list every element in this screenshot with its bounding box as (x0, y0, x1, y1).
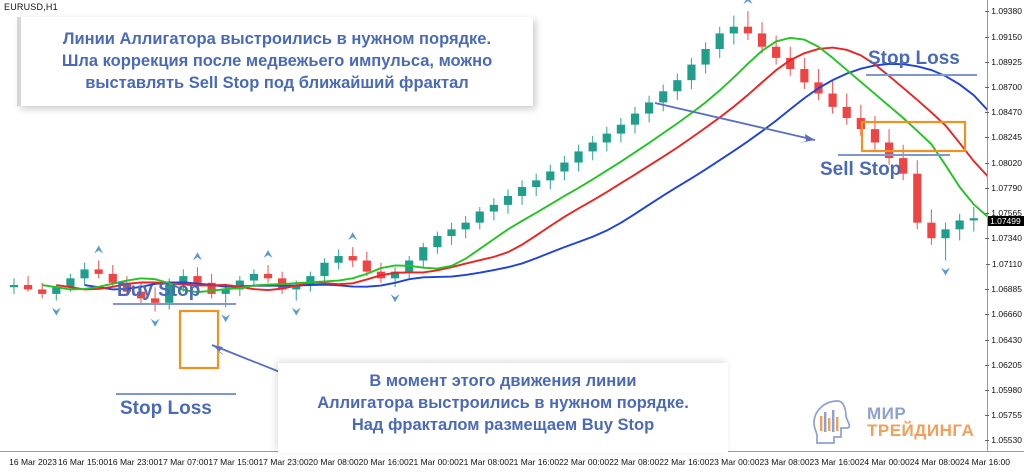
time-tick: 17 Mar 23:00 (258, 457, 308, 467)
time-tick: 21 Mar 00:00 (409, 457, 459, 467)
annotation-bottom-line1: В момент этого движения линии (288, 371, 718, 393)
time-tick: 17 Mar 15:00 (208, 457, 258, 467)
annotation-bottom-line2: Аллигатора выстроились в нужном порядке. (288, 393, 718, 415)
buy-stop-label: Buy Stop (117, 280, 200, 302)
price-axis[interactable]: 1.093801.091501.089251.087001.084701.082… (987, 0, 1024, 452)
watermark-logo: МИР ТРЕЙДИНГА (808, 398, 974, 446)
buy-stop-underline (113, 303, 236, 305)
price-tick: 1.07790 (991, 183, 1022, 193)
time-tick: 23 Mar 00:00 (709, 457, 759, 467)
annotation-top-line3: выставлять Sell Stop под ближайший фракт… (35, 73, 519, 95)
time-tick: 16 Mar 15:00 (58, 457, 108, 467)
time-tick: 16 Mar 23:00 (108, 457, 158, 467)
time-tick: 23 Mar 08:00 (759, 457, 809, 467)
annotation-top-line2: Шла коррекция после медвежьего импульса,… (35, 51, 519, 73)
chart-screenshot: 1.093801.091501.089251.087001.084701.082… (0, 0, 1024, 473)
time-tick: 22 Mar 16:00 (659, 457, 709, 467)
stop-loss-right-underline (866, 74, 977, 76)
time-tick: 24 Mar 00:00 (860, 457, 910, 467)
time-tick: 24 Mar 16:00 (960, 457, 1010, 467)
annotation-bottom-line3: Над фракталом размещаем Buy Stop (288, 415, 718, 437)
time-tick: 21 Mar 08:00 (459, 457, 509, 467)
time-tick: 24 Mar 08:00 (910, 457, 960, 467)
price-tick: 1.05980 (991, 385, 1022, 395)
time-tick: 17 Mar 07:00 (158, 457, 208, 467)
price-tick: 1.05755 (991, 410, 1022, 420)
price-tick: 1.07110 (992, 259, 1022, 269)
watermark-line2: ТРЕЙДИНГА (867, 422, 974, 439)
time-tick: 20 Mar 08:00 (309, 457, 359, 467)
price-tick: 1.08020 (991, 158, 1022, 168)
symbol-title: EURUSD,H1 (4, 2, 58, 12)
stop-loss-left-label: Stop Loss (120, 398, 212, 420)
price-tick: 1.08700 (991, 82, 1022, 92)
time-tick: 20 Mar 16:00 (359, 457, 409, 467)
price-tick: 1.08925 (991, 57, 1022, 67)
sell-stop-label: Sell Stop (820, 159, 901, 181)
price-tick: 1.06660 (991, 309, 1022, 319)
price-tick: 1.06430 (991, 335, 1022, 345)
price-tick: 1.05530 (991, 435, 1022, 445)
annotation-top-line1: Линии Аллигатора выстроились в нужном по… (35, 29, 519, 51)
orange-box-left (180, 311, 218, 368)
annotation-top: Линии Аллигатора выстроились в нужном по… (17, 17, 533, 106)
price-tick: 1.09150 (991, 32, 1022, 42)
time-tick: 23 Mar 16:00 (810, 457, 860, 467)
annotation-bottom: В момент этого движения линии Аллигатора… (278, 363, 728, 453)
price-tick: 1.06885 (991, 284, 1022, 294)
sell-stop-underline (838, 154, 950, 156)
stop-loss-left-underline (116, 393, 236, 395)
price-tick: 1.08470 (991, 107, 1022, 117)
time-tick: 16 Mar 2023 (9, 457, 57, 467)
price-tick: 1.06205 (991, 360, 1022, 370)
time-tick: 22 Mar 08:00 (609, 457, 659, 467)
time-tick: 21 Mar 16:00 (509, 457, 559, 467)
price-tick: 1.09380 (991, 6, 1022, 16)
time-axis[interactable]: 16 Mar 202316 Mar 15:0016 Mar 23:0017 Ma… (0, 451, 1024, 473)
watermark-line1: МИР (867, 405, 974, 422)
stop-loss-right-label: Stop Loss (868, 48, 960, 70)
time-tick: 22 Mar 00:00 (559, 457, 609, 467)
price-tick: 1.08245 (991, 132, 1022, 142)
current-price-label: 1.07499 (988, 216, 1024, 226)
head-profile-icon (808, 398, 860, 446)
price-tick: 1.07340 (991, 233, 1022, 243)
